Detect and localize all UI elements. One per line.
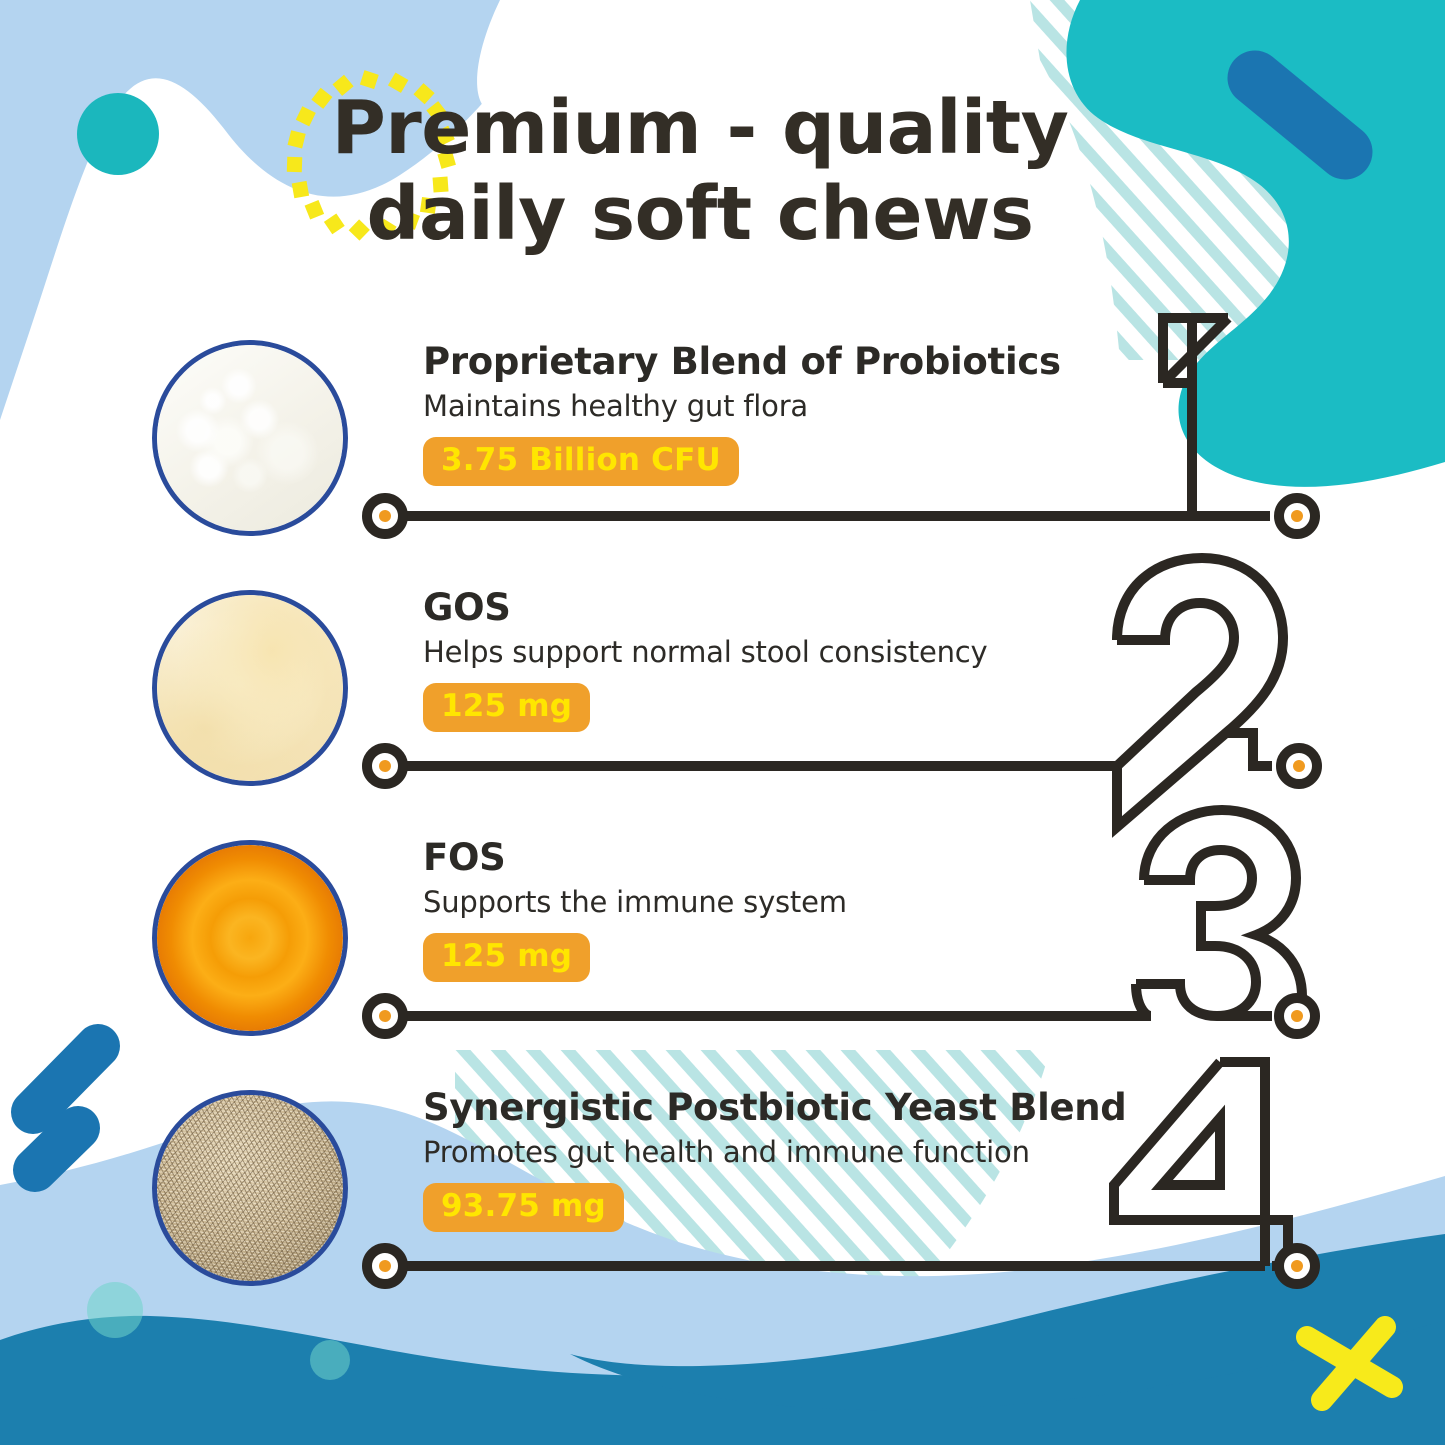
ingredient-row: GOS Helps support normal stool consisten… <box>0 580 1445 830</box>
ingredient-description: Helps support normal stool consistency <box>423 636 988 668</box>
probiotic-yogurt-thumbnail <box>152 340 348 536</box>
ingredient-row: Synergistic Postbiotic Yeast Blend Promo… <box>0 1080 1445 1330</box>
title-line-2: daily soft chews <box>300 172 1100 258</box>
fos-chicory-root-thumbnail <box>152 840 348 1036</box>
ingredient-text-block: Proprietary Blend of Probiotics Maintain… <box>423 342 1061 486</box>
ingredient-amount-badge: 125 mg <box>423 683 590 733</box>
infographic-poster: Premium - quality daily soft chews Propr… <box>0 0 1445 1445</box>
ingredient-title: Proprietary Blend of Probiotics <box>423 342 1061 381</box>
title-line-1: Premium - quality <box>300 86 1100 172</box>
ingredient-title: Synergistic Postbiotic Yeast Blend <box>423 1088 1127 1127</box>
page-title: Premium - quality daily soft chews <box>300 86 1100 258</box>
ingredient-text-block: FOS Supports the immune system 125 mg <box>423 838 847 982</box>
ingredient-title: FOS <box>423 838 847 877</box>
ingredient-amount-badge: 93.75 mg <box>423 1183 624 1233</box>
ingredient-text-block: Synergistic Postbiotic Yeast Blend Promo… <box>423 1088 1127 1232</box>
ingredient-description: Supports the immune system <box>423 886 847 918</box>
yeast-granules-thumbnail <box>152 1090 348 1286</box>
ingredient-amount-badge: 125 mg <box>423 933 590 983</box>
ingredient-description: Maintains healthy gut flora <box>423 390 1061 422</box>
ingredient-title: GOS <box>423 588 988 627</box>
ingredient-row: Proprietary Blend of Probiotics Maintain… <box>0 330 1445 580</box>
ingredient-text-block: GOS Helps support normal stool consisten… <box>423 588 988 732</box>
ingredient-row: FOS Supports the immune system 125 mg <box>0 830 1445 1080</box>
gos-cream-thumbnail <box>152 590 348 786</box>
ingredient-amount-badge: 3.75 Billion CFU <box>423 437 739 487</box>
ingredient-description: Promotes gut health and immune function <box>423 1136 1127 1168</box>
